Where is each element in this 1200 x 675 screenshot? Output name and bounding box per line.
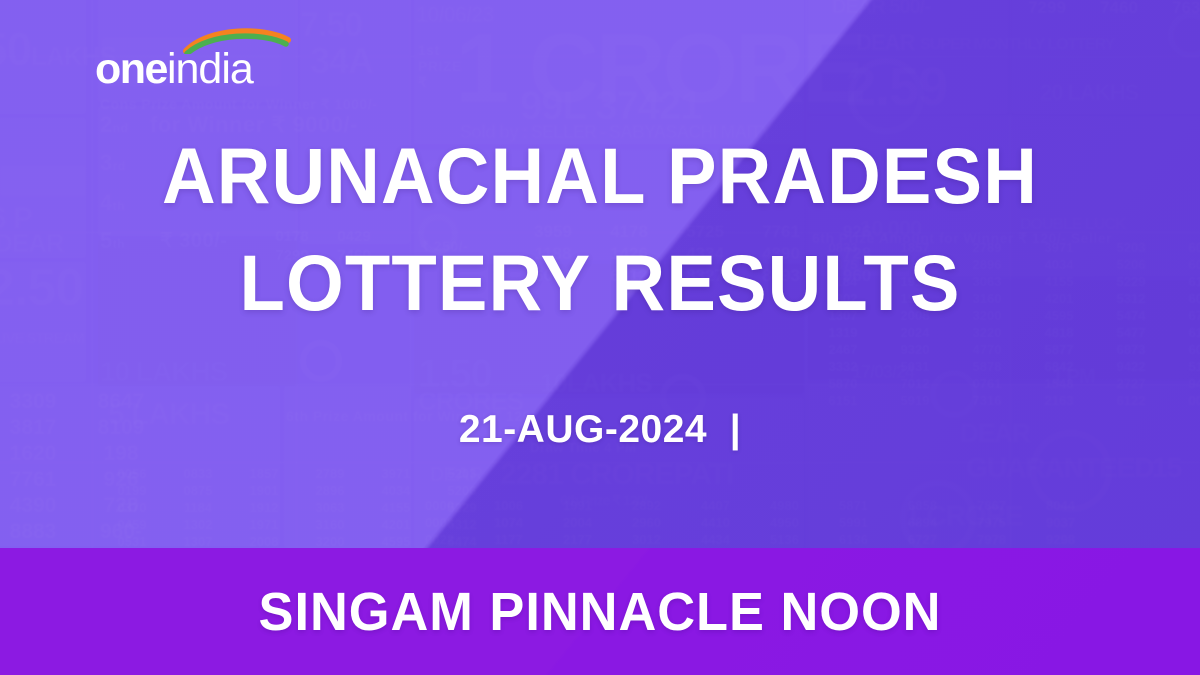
lottery-result-banner-image: 50LAKHS DEAR 2.50 LIVE STREAM 6 P 10 LAK… [0,0,1200,675]
logo-india-text: india [167,45,253,93]
title-line-state: ARUNACHAL PRADESH [36,138,1164,213]
draw-date-row: 21-AUG-2024 | [0,408,1200,452]
draw-date: 21-AUG-2024 | [459,408,741,451]
draw-name-text: SINGAM PINNACLE NOON [259,585,942,639]
draw-name-banner: SINGAM PINNACLE NOON [0,548,1200,675]
page-title: ARUNACHAL PRADESH LOTTERY RESULTS [0,138,1200,320]
logo-one-text: one [95,45,167,93]
oneindia-logo[interactable]: oneindia [95,26,325,98]
title-line-subject: LOTTERY RESULTS [36,245,1164,320]
logo-wordmark: oneindia [95,48,253,91]
